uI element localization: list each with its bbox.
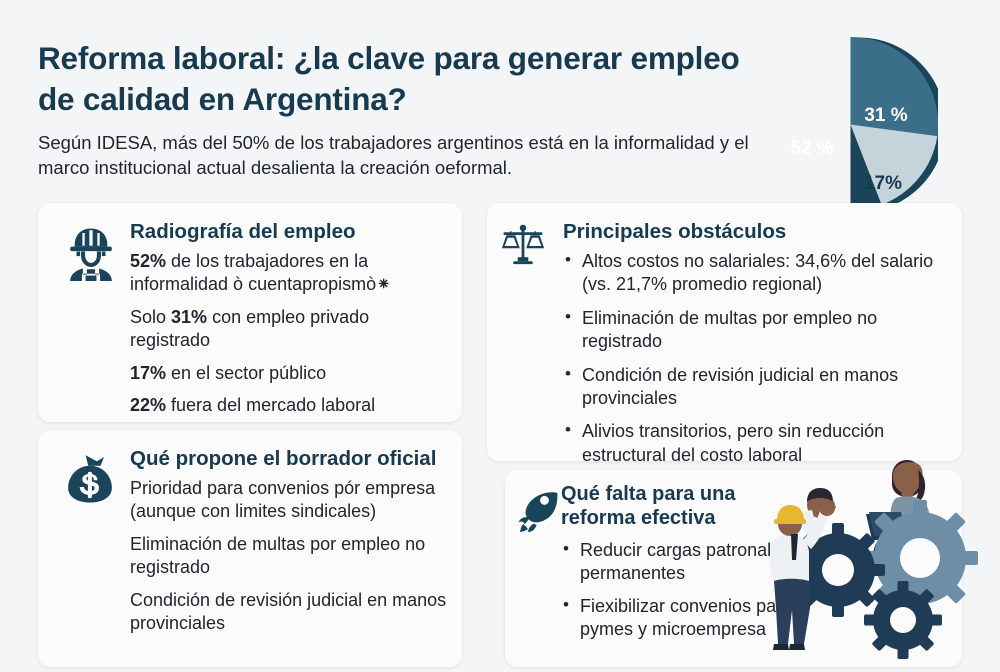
stat-prefix-31: Solo	[130, 307, 171, 327]
list-item: Fiexibilizar convenios para pymes y micr…	[561, 595, 812, 642]
stat-line-privado: Solo 31% con empleo privado registrado	[130, 306, 448, 353]
rocket-icon-svg	[515, 486, 561, 532]
header: Reforma laboral: ¿la clave para generar …	[38, 38, 768, 181]
stat-value-17: 17%	[130, 363, 166, 383]
stat-line-informalidad: 52% de los trabajadores en la informalid…	[130, 250, 448, 297]
stat-text-52: de los trabajadores en la informalidad ò…	[130, 251, 391, 294]
card-reforma-title: Qué falta para una reforma efectiva	[561, 482, 812, 531]
card-radiografia-body: Radiografía del empleo 52% de los trabaj…	[130, 219, 448, 417]
construction-worker-icon	[62, 223, 120, 281]
obstaculos-list: Altos costos no salariales: 34,6% del sa…	[563, 250, 948, 467]
proposal-line-revision: Condición de revisión judicial en manos …	[130, 589, 448, 636]
card-borrador-title: Qué propone el borrador oficial	[130, 446, 448, 471]
employment-pie-chart: 52 % 31 % 17%	[763, 37, 938, 212]
list-item: Altos costos no salariales: 34,6% del sa…	[563, 250, 948, 297]
pie-svg: 52 % 31 % 17%	[763, 37, 938, 212]
proposal-line-multas: Eliminación de multas por empleo no regi…	[130, 533, 448, 580]
stat-text-22: fuera del mercado laboral	[166, 395, 375, 415]
card-reforma-body: Qué falta para una reforma efectiva Redu…	[561, 482, 812, 650]
stat-value-22: 22%	[130, 395, 166, 415]
card-borrador-oficial: Qué propone el borrador oficial Priorida…	[38, 430, 462, 667]
stat-value-52: 52%	[130, 251, 166, 271]
infographic-page: Reforma laboral: ¿la clave para generar …	[0, 0, 1000, 667]
list-item: Condición de revisión judicial en manos …	[563, 364, 948, 411]
stat-line-publico: 17% en el sector público	[130, 362, 448, 385]
pie-label-17: 17%	[864, 173, 902, 194]
scales-of-justice-icon	[497, 219, 549, 271]
page-title: Reforma laboral: ¿la clave para generar …	[38, 38, 768, 120]
scales-of-justice-icon-svg	[497, 219, 549, 271]
rocket-icon	[515, 486, 561, 532]
stat-line-fuera-mercado: 22% fuera del mercado laboral	[130, 394, 448, 417]
card-obstaculos-body: Principales obstáculos Altos costos no s…	[563, 219, 948, 467]
proposal-line-convenios: Prioridad para convenios pór empresa (au…	[130, 477, 448, 524]
list-item: Alivios transitorios, pero sin reducción…	[563, 420, 948, 467]
card-radiografia-title: Radiografía del empleo	[130, 219, 448, 244]
card-reforma-efectiva: Qué falta para una reforma efectiva Redu…	[505, 470, 962, 667]
card-borrador-body: Qué propone el borrador oficial Priorida…	[130, 446, 448, 635]
money-bag-icon	[62, 450, 120, 508]
card-principales-obstaculos: Principales obstáculos Altos costos no s…	[487, 203, 962, 461]
pie-label-52: 52 %	[790, 138, 833, 159]
construction-worker-icon-svg	[62, 223, 120, 281]
stat-text-17: en el sector público	[166, 363, 326, 383]
list-item: Reducir cargas patronales permanentes	[561, 539, 812, 586]
card-radiografia-del-empleo: Radiografía del empleo 52% de los trabaj…	[38, 203, 462, 422]
stat-value-31: 31%	[171, 307, 207, 327]
page-subtitle: Según IDESA, más del 50% de los trabajad…	[38, 130, 768, 181]
list-item: Eliminación de multas por empleo no regi…	[563, 307, 948, 354]
card-obstaculos-title: Principales obstáculos	[563, 219, 948, 244]
reforma-list: Reducir cargas patronales permanentes Fi…	[561, 539, 812, 642]
pie-label-31: 31 %	[864, 105, 907, 126]
money-bag-icon-svg	[62, 450, 118, 506]
